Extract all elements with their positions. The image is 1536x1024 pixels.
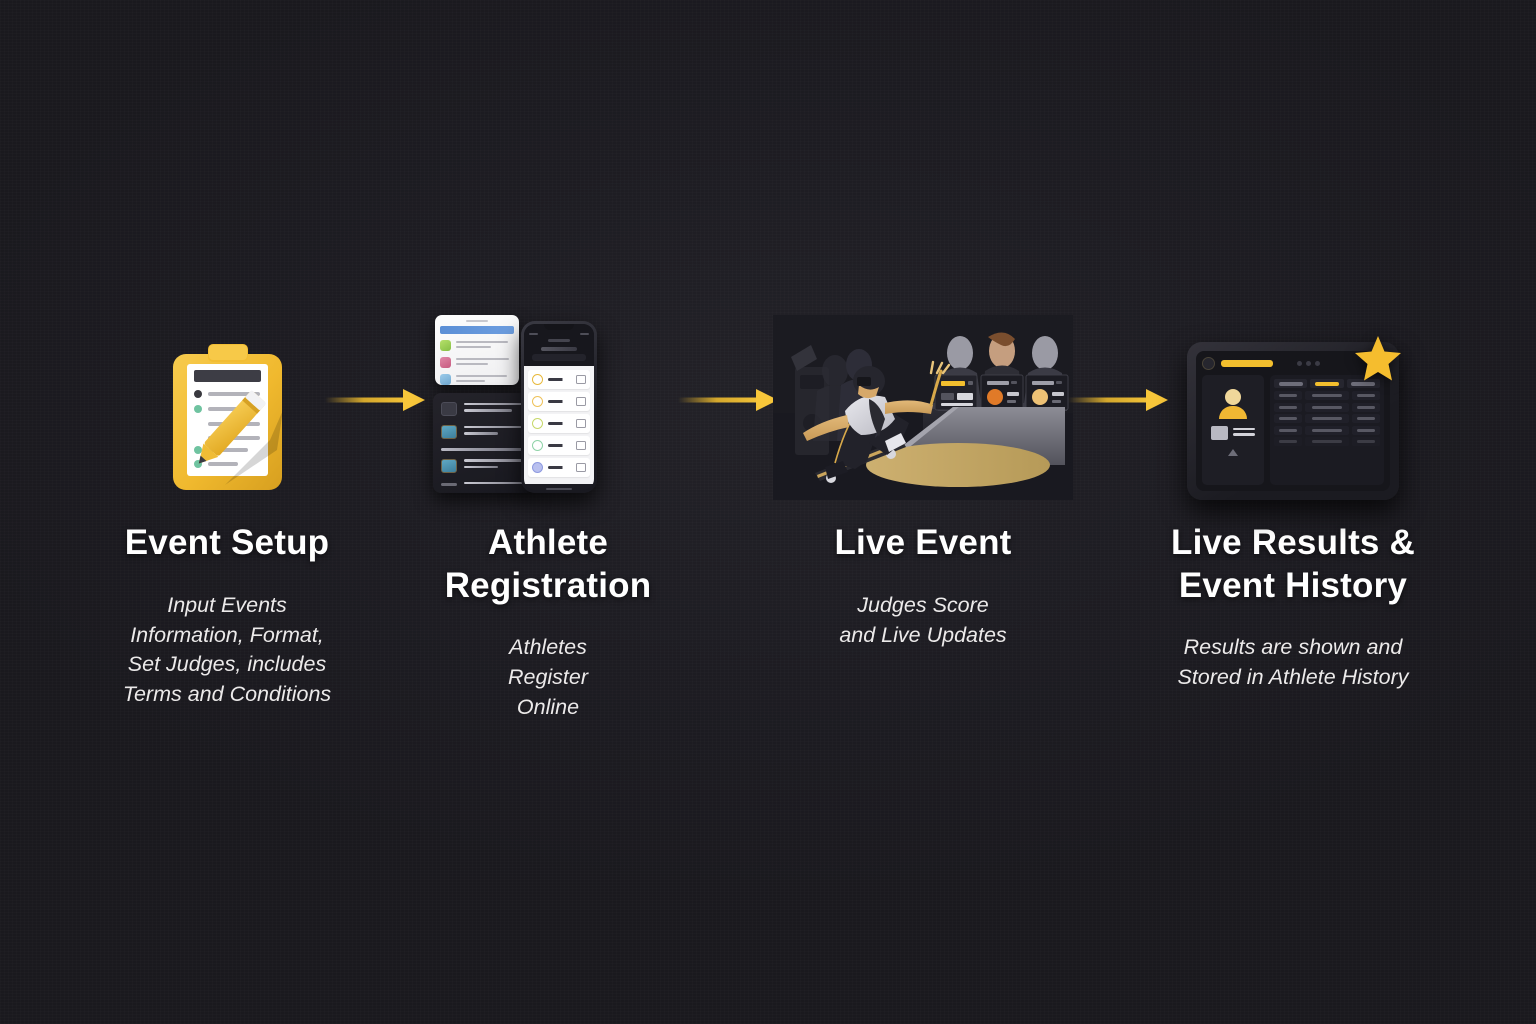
avatar-head (1225, 389, 1241, 405)
avatar (532, 374, 543, 385)
results-table (1270, 375, 1384, 485)
status-left (529, 333, 538, 335)
judge-screen-2 (981, 375, 1023, 410)
avatar-body (1219, 406, 1247, 419)
panel-row-lines (464, 482, 525, 489)
phone-title (541, 347, 577, 351)
list-item[interactable] (528, 436, 590, 455)
list-item[interactable] (528, 370, 590, 389)
panel-row-lines (464, 403, 525, 416)
avatar (532, 462, 543, 473)
panel-row-icon (441, 483, 457, 486)
step-athlete-registration-artwork (398, 300, 698, 500)
toolbar-dot-icon[interactable] (1306, 361, 1311, 366)
row-chip-green (440, 340, 451, 351)
list-item-label (548, 400, 571, 403)
panel-row (441, 402, 525, 416)
registration-list-panel (433, 393, 533, 493)
phone-athlete-list[interactable] (524, 366, 594, 484)
window-grip (466, 320, 488, 322)
row-chip-pink (440, 357, 451, 368)
row-lines (456, 341, 514, 351)
table-cell (1274, 391, 1302, 400)
panel-row (441, 425, 525, 439)
step-live-event: Live Event Judges Score and Live Updates (773, 300, 1073, 650)
panel-row-icon (441, 459, 457, 473)
panel-row-icon (441, 402, 457, 416)
step-live-event-caption: Judges Score and Live Updates (773, 591, 1073, 651)
judge-screen-3 (1026, 375, 1068, 410)
arrow-registration-to-live (678, 385, 786, 415)
table-row[interactable] (1274, 391, 1380, 400)
table-cell (1352, 403, 1380, 412)
panel-row (441, 459, 525, 473)
registration-phone (521, 321, 597, 493)
tablet-toolbar-icons[interactable] (1297, 361, 1320, 366)
phone-subtitle (548, 339, 571, 342)
list-item[interactable] (528, 392, 590, 411)
step-athlete-registration: Athlete Registration Athletes Register O… (398, 300, 698, 723)
athlete-id-row (1211, 426, 1255, 440)
phone-header (524, 324, 594, 366)
window-title-bar (440, 326, 514, 334)
panel-row-lines (464, 459, 525, 472)
step-event-setup-caption: Input Events Information, Format, Set Ju… (77, 591, 377, 711)
window-row (440, 357, 514, 368)
row-lines (456, 358, 514, 368)
table-row[interactable] (1274, 414, 1380, 423)
step-event-setup-title: Event Setup (77, 522, 377, 565)
list-item-label (548, 422, 571, 425)
table-cell (1305, 426, 1349, 435)
rank-up-icon (1228, 449, 1238, 456)
table-cell (1352, 437, 1380, 446)
list-item[interactable] (528, 414, 590, 433)
panel-divider (441, 448, 525, 451)
step-athlete-registration-caption: Athletes Register Online (398, 633, 698, 723)
id-lines (1233, 428, 1255, 439)
checkbox[interactable] (576, 441, 586, 450)
toolbar-dot-icon[interactable] (1297, 361, 1302, 366)
table-cell (1305, 391, 1349, 400)
row-lines (456, 375, 514, 385)
table-header-cell[interactable] (1274, 379, 1307, 388)
phone-search-field[interactable] (532, 354, 586, 361)
row-chip-blue (440, 374, 451, 385)
app-logo-icon (1202, 357, 1215, 370)
step-live-results-caption: Results are shown and Stored in Athlete … (1143, 633, 1443, 693)
step-athlete-registration-title: Athlete Registration (398, 522, 698, 607)
list-item-label (548, 466, 571, 469)
athlete-profile-panel (1202, 375, 1264, 485)
step-live-results-title: Live Results & Event History (1143, 522, 1443, 607)
step-live-event-artwork (773, 300, 1073, 500)
checkbox[interactable] (576, 419, 586, 428)
checkbox[interactable] (576, 463, 586, 472)
devices-registration-icon (433, 315, 663, 500)
table-row[interactable] (1274, 403, 1380, 412)
table-row[interactable] (1274, 437, 1380, 446)
avatar (1218, 389, 1248, 419)
phone-screen (524, 324, 594, 490)
status-right (580, 333, 589, 335)
table-cell (1274, 414, 1302, 423)
phone-status-bar (529, 333, 589, 335)
tablet-body (1202, 375, 1384, 485)
step-live-results: Live Results & Event History Results are… (1143, 300, 1443, 693)
table-cell (1274, 403, 1302, 412)
list-item-label (548, 444, 571, 447)
window-row (440, 340, 514, 351)
table-row[interactable] (1274, 426, 1380, 435)
phone-notch (544, 324, 574, 330)
panel-row-lines (464, 426, 525, 439)
avatar (532, 396, 543, 407)
table-cell (1352, 414, 1380, 423)
step-event-setup: Event Setup Input Events Information, Fo… (77, 300, 377, 710)
table-cell (1305, 403, 1349, 412)
list-item-label (548, 378, 571, 381)
step-live-event-title: Live Event (773, 522, 1073, 565)
flow-diagram-canvas: Event Setup Input Events Information, Fo… (0, 0, 1536, 1024)
star-icon (1353, 334, 1403, 382)
skater-judges-scene-icon (773, 315, 1073, 500)
clipboard-pencil-icon (165, 340, 290, 500)
table-cell (1352, 391, 1380, 400)
checkbox[interactable] (576, 397, 586, 406)
table-cell (1305, 437, 1349, 446)
avatar (532, 440, 543, 451)
list-item[interactable] (528, 458, 590, 477)
table-cell (1305, 414, 1349, 423)
app-title-pill (1221, 360, 1273, 367)
table-cell (1274, 437, 1302, 446)
window-row (440, 374, 514, 385)
phone-home-indicator (546, 488, 572, 490)
toolbar-dot-icon[interactable] (1315, 361, 1320, 366)
panel-row (441, 482, 525, 489)
registration-window-card (435, 315, 519, 385)
avatar (532, 418, 543, 429)
judge-screen-1 (935, 375, 977, 410)
table-header-cell-active[interactable] (1310, 379, 1343, 388)
checkbox[interactable] (576, 375, 586, 384)
table-cell (1274, 426, 1302, 435)
id-card-icon (1211, 426, 1228, 440)
tablet-results-icon (1187, 342, 1399, 500)
panel-row-icon (441, 425, 457, 439)
step-live-results-artwork (1143, 300, 1443, 500)
table-cell (1352, 426, 1380, 435)
